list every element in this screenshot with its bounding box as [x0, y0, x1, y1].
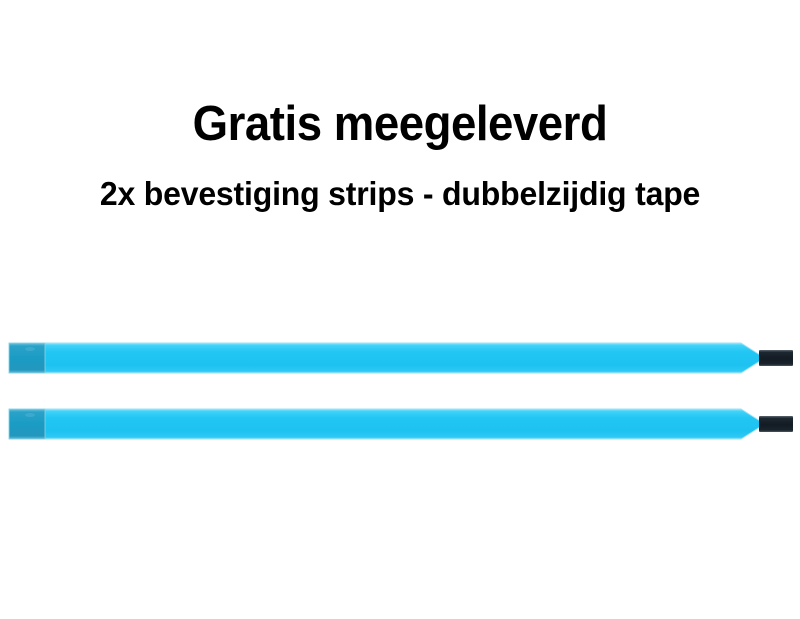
tape-body [9, 343, 760, 373]
promo-text-block: Gratis meegeleverd 2x bevestiging strips… [0, 96, 800, 214]
black-pull-tab [759, 350, 793, 366]
promo-subtitle: 2x bevestiging strips - dubbelzijdig tap… [12, 174, 788, 214]
product-promo-canvas: Gratis meegeleverd 2x bevestiging strips… [0, 0, 800, 619]
tape-body [9, 409, 760, 439]
bevestiging-strip-1 [8, 340, 794, 376]
bevestiging-strip-2 [8, 406, 794, 442]
black-pull-tab [759, 416, 793, 432]
page-title: Gratis meegeleverd [28, 96, 772, 152]
tab-sheen [25, 347, 35, 351]
tab-sheen [25, 413, 35, 417]
